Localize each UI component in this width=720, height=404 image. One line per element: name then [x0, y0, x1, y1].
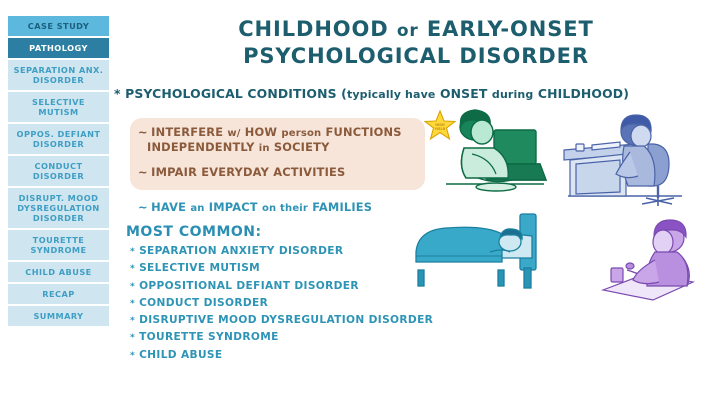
title-line-1: CHILDHOOD or EARLY-ONSET — [112, 16, 720, 43]
title-part-childhood: CHILDHOOD — [238, 17, 397, 41]
impact-lc1: an — [190, 203, 204, 214]
lead-statement: * PSYCHOLOGICAL CONDITIONS (typically ha… — [114, 86, 718, 101]
impact-b: IMPACT — [205, 200, 262, 214]
sidebar-item-summary[interactable]: SUMMARY — [8, 306, 109, 326]
callout-row-interfere: ~ INTERFERE w/ HOW person FUNCTIONS INDE… — [138, 125, 415, 156]
title-line-2: PSYCHOLOGICAL DISORDER — [112, 43, 720, 70]
most-common-item-label: CONDUCT DISORDER — [139, 297, 268, 309]
title-part-early-onset: EARLY-ONSET — [419, 17, 594, 41]
most-common-heading: MOST COMMON: — [126, 224, 262, 240]
most-common-list-item: *TOURETTE SYNDROME — [130, 332, 450, 343]
sidebar-item-disrupt-mood-dysregulation-disorder[interactable]: DISRUPT. MOOD DYSREGULATION DISORDER — [8, 188, 109, 228]
list-bullet-icon: * — [130, 299, 135, 309]
callout-2-a: IMPAIR EVERYDAY ACTIVITIES — [147, 165, 345, 179]
callout-row-impair: ~ IMPAIR EVERYDAY ACTIVITIES — [138, 165, 415, 179]
impact-c: FAMILIES — [308, 200, 372, 214]
lead-text-c: CHILDHOOD) — [533, 86, 629, 101]
callout-1-l2lc: in — [259, 143, 270, 154]
person-sleeping-in-bed-illustration — [412, 208, 552, 304]
person-slumped-at-computer-illustration — [442, 104, 550, 200]
main-content: CHILDHOOD or EARLY-ONSET PSYCHOLOGICAL D… — [112, 0, 720, 404]
impact-a: HAVE — [147, 200, 190, 214]
person-slumped-at-desk-illustration — [562, 114, 686, 210]
highlight-callout-box: ~ INTERFERE w/ HOW person FUNCTIONS INDE… — [130, 118, 425, 190]
person-sitting-writing-illustration — [597, 218, 717, 314]
callout-1-lc2: person — [281, 128, 321, 139]
impact-dash-icon: ~ — [138, 200, 147, 214]
callout-row-interfere-line2: INDEPENDENTLY in SOCIETY — [138, 140, 415, 155]
page-title: CHILDHOOD or EARLY-ONSET PSYCHOLOGICAL D… — [112, 16, 720, 70]
sidebar-item-recap[interactable]: RECAP — [8, 284, 109, 304]
most-common-list-item: *DISRUPTIVE MOOD DYSREGULATION DISORDER — [130, 315, 450, 326]
most-common-item-label: SELECTIVE MUTISM — [139, 262, 260, 274]
list-bullet-icon: * — [130, 333, 135, 343]
lead-text-lc1: typically have — [347, 88, 436, 101]
impact-lc2: on their — [262, 203, 308, 214]
list-bullet-icon: * — [130, 247, 135, 257]
sidebar-item-oppos-defiant-disorder[interactable]: OPPOS. DEFIANT DISORDER — [8, 124, 109, 154]
callout-dash-icon-2: ~ — [138, 165, 147, 179]
sidebar-item-selective-mutism[interactable]: SELECTIVE MUTISM — [8, 92, 109, 122]
most-common-item-label: SEPARATION ANXIETY DISORDER — [139, 245, 343, 257]
callout-1-c: FUNCTIONS — [321, 125, 401, 139]
list-bullet-icon: * — [130, 351, 135, 361]
sidebar-item-tourette-syndrome[interactable]: TOURETTE SYNDROME — [8, 230, 109, 260]
callout-1-l2b: SOCIETY — [270, 140, 330, 154]
most-common-item-label: OPPOSITIONAL DEFIANT DISORDER — [139, 280, 359, 292]
lead-text-b: ONSET — [436, 86, 492, 101]
most-common-list-item: *OPPOSITIONAL DEFIANT DISORDER — [130, 281, 450, 292]
title-part-or: or — [397, 21, 419, 41]
slide-root: CASE STUDYPATHOLOGYSEPARATION ANX. DISOR… — [0, 0, 720, 404]
lead-text-a: PSYCHOLOGICAL CONDITIONS ( — [121, 86, 347, 101]
sidebar-item-child-abuse[interactable]: CHILD ABUSE — [8, 262, 109, 282]
most-common-list-item: *SELECTIVE MUTISM — [130, 263, 450, 274]
most-common-item-label: TOURETTE SYNDROME — [139, 331, 279, 343]
list-bullet-icon: * — [130, 316, 135, 326]
impact-statement: ~ HAVE an IMPACT on their FAMILIES — [138, 200, 372, 214]
most-common-list-item: *SEPARATION ANXIETY DISORDER — [130, 246, 450, 257]
sidebar-item-case-study[interactable]: CASE STUDY — [8, 16, 109, 36]
sidebar-item-conduct-disorder[interactable]: CONDUCT DISORDER — [8, 156, 109, 186]
lead-text-lc2: during — [492, 88, 534, 101]
sidebar-item-separation-anx-disorder[interactable]: SEPARATION ANX. DISORDER — [8, 60, 109, 90]
sidebar-nav: CASE STUDYPATHOLOGYSEPARATION ANX. DISOR… — [8, 16, 109, 326]
most-common-item-label: CHILD ABUSE — [139, 349, 222, 361]
most-common-item-label: DISRUPTIVE MOOD DYSREGULATION DISORDER — [139, 314, 433, 326]
most-common-list: *SEPARATION ANXIETY DISORDER*SELECTIVE M… — [130, 246, 450, 367]
callout-1-lc1: w/ — [227, 128, 240, 139]
sidebar-item-pathology[interactable]: PATHOLOGY — [8, 38, 109, 58]
callout-dash-icon-1: ~ — [138, 125, 147, 139]
lead-bullet-icon: * — [114, 86, 121, 101]
list-bullet-icon: * — [130, 264, 135, 274]
callout-1-b: HOW — [241, 125, 282, 139]
callout-1-l2a: INDEPENDENTLY — [147, 140, 259, 154]
most-common-list-item: *CONDUCT DISORDER — [130, 298, 450, 309]
list-bullet-icon: * — [130, 282, 135, 292]
most-common-list-item: *CHILD ABUSE — [130, 350, 450, 361]
callout-1-a: INTERFERE — [147, 125, 227, 139]
